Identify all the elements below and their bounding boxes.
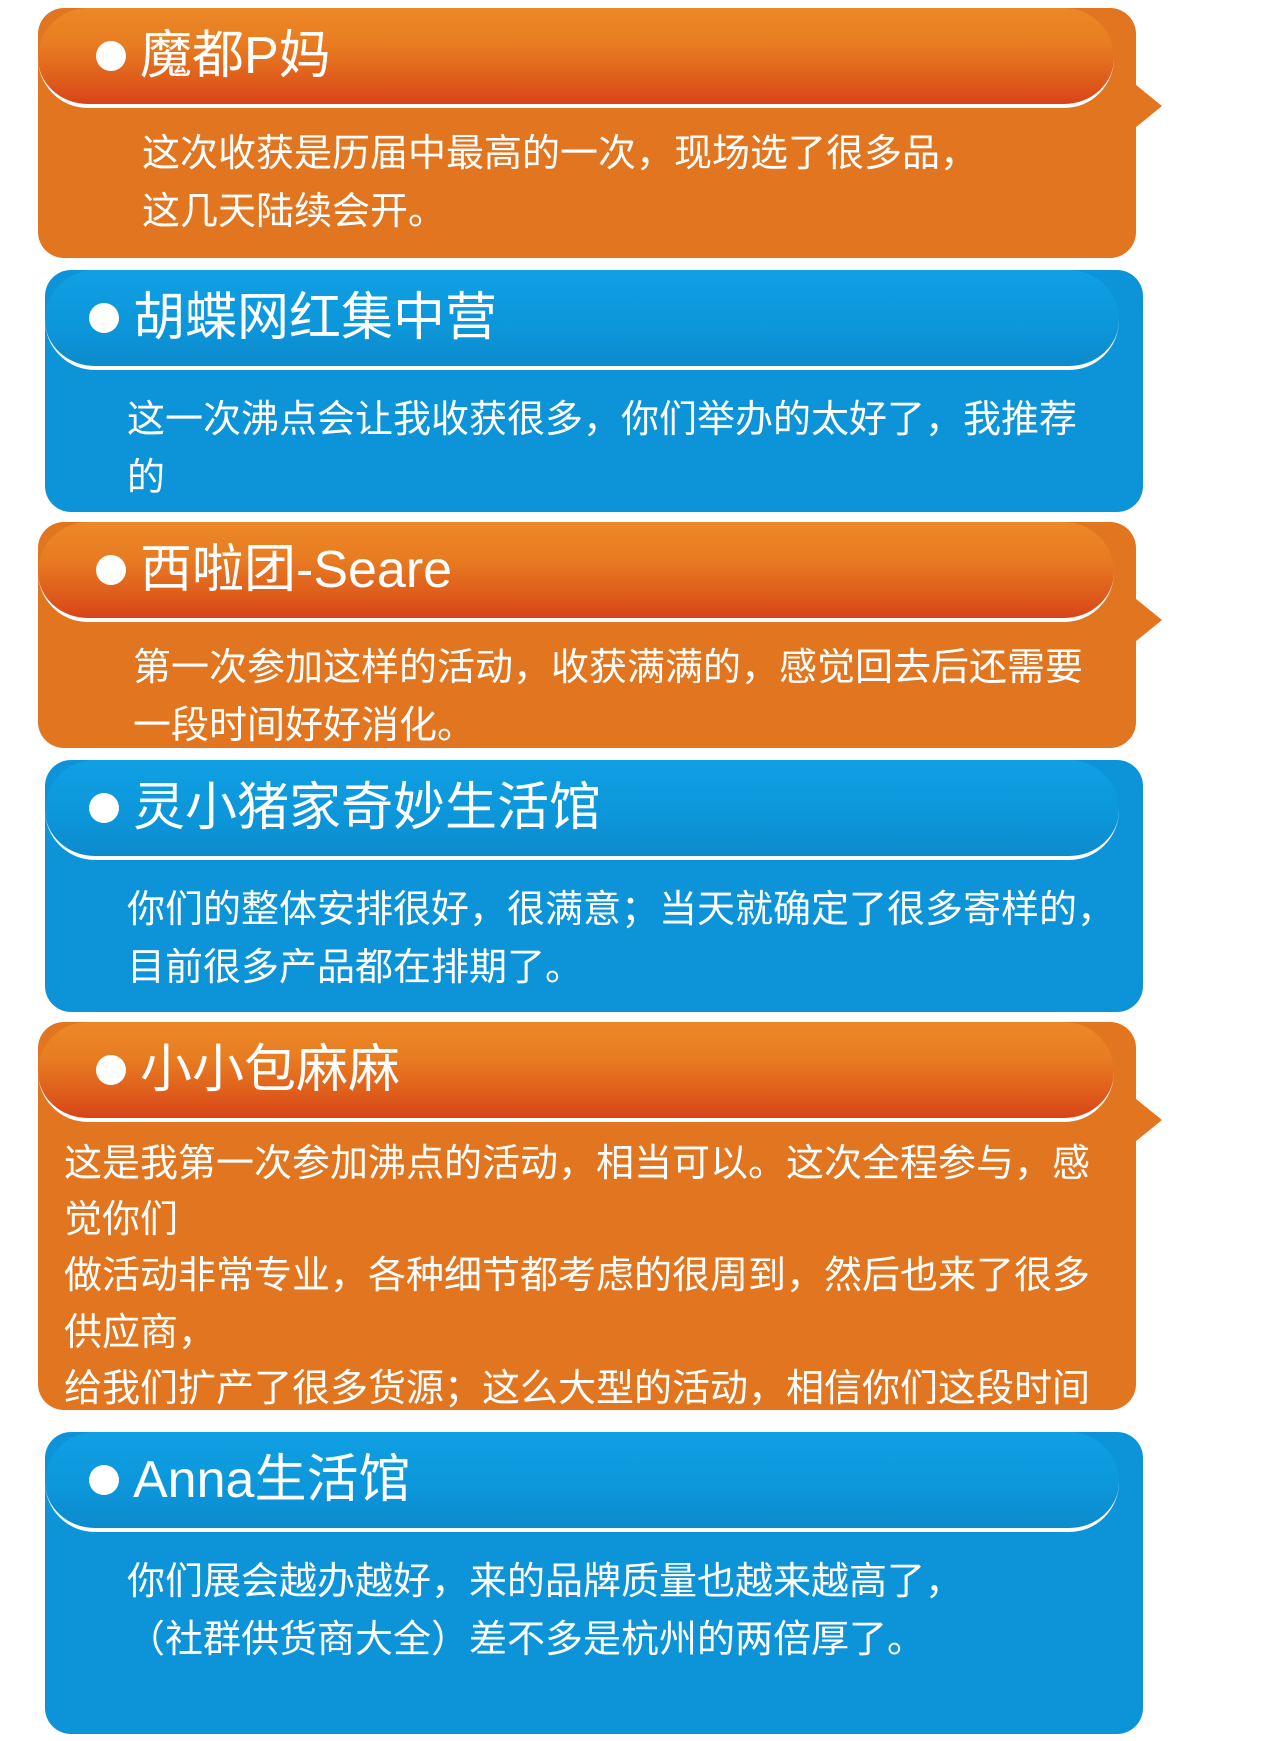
testimonial-quote: 这次收获是历届中最高的一次，现场选了很多品， 这几天陆续会开。 [142, 126, 1122, 242]
testimonial-name: 西啦团-Seare [140, 544, 452, 596]
bullet-dot-icon [96, 41, 126, 71]
testimonial-quote: 你们的整体安排很好，很满意；当天就确定了很多寄样的， 目前很多产品都在排期了。 [127, 882, 1117, 998]
testimonial-name: 灵小猪家奇妙生活馆 [133, 782, 601, 834]
testimonial-header: 灵小猪家奇妙生活馆 [45, 760, 1119, 860]
speech-bubble-tail-right [1130, 1094, 1162, 1146]
testimonial-name: 魔都P妈 [140, 30, 331, 82]
testimonial-quote: 第一次参加这样的活动，收获满满的，感觉回去后还需要 一段时间好好消化。 [133, 640, 1123, 756]
bullet-dot-icon [89, 303, 119, 333]
testimonial-header: 魔都P妈 [38, 8, 1114, 108]
testimonial-header: 胡蝶网红集中营 [45, 270, 1119, 370]
testimonial-card-2: 胡蝶网红集中营 这一次沸点会让我收获很多，你们举办的太好了，我推荐的 供应商也是… [45, 270, 1143, 512]
testimonial-header: Anna生活馆 [45, 1432, 1119, 1532]
bullet-dot-icon [89, 1465, 119, 1495]
testimonial-card-4: 灵小猪家奇妙生活馆 你们的整体安排很好，很满意；当天就确定了很多寄样的， 目前很… [45, 760, 1143, 1012]
testimonial-header: 西啦团-Seare [38, 522, 1114, 622]
testimonial-card-5: 小小包麻麻 这是我第一次参加沸点的活动，相当可以。这次全程参与，感觉你们 做活动… [38, 1022, 1136, 1410]
bullet-dot-icon [96, 555, 126, 585]
speech-bubble-tail-right [1130, 80, 1162, 132]
bullet-dot-icon [89, 793, 119, 823]
testimonial-name: Anna生活馆 [133, 1454, 410, 1506]
testimonial-card-3: 西啦团-Seare 第一次参加这样的活动，收获满满的，感觉回去后还需要 一段时间… [38, 522, 1136, 748]
testimonial-name: 胡蝶网红集中营 [133, 292, 497, 344]
testimonial-name: 小小包麻麻 [140, 1044, 400, 1096]
testimonial-header: 小小包麻麻 [38, 1022, 1114, 1122]
bullet-dot-icon [96, 1055, 126, 1085]
speech-bubble-tail-right [1130, 594, 1162, 646]
testimonial-card-6: Anna生活馆 你们展会越办越好，来的品牌质量也越来越高了， （社群供货商大全）… [45, 1432, 1143, 1734]
testimonial-quote: 你们展会越办越好，来的品牌质量也越来越高了， （社群供货商大全）差不多是杭州的两… [127, 1554, 1117, 1670]
testimonial-card-1: 魔都P妈 这次收获是历届中最高的一次，现场选了很多品， 这几天陆续会开。 [38, 8, 1136, 258]
